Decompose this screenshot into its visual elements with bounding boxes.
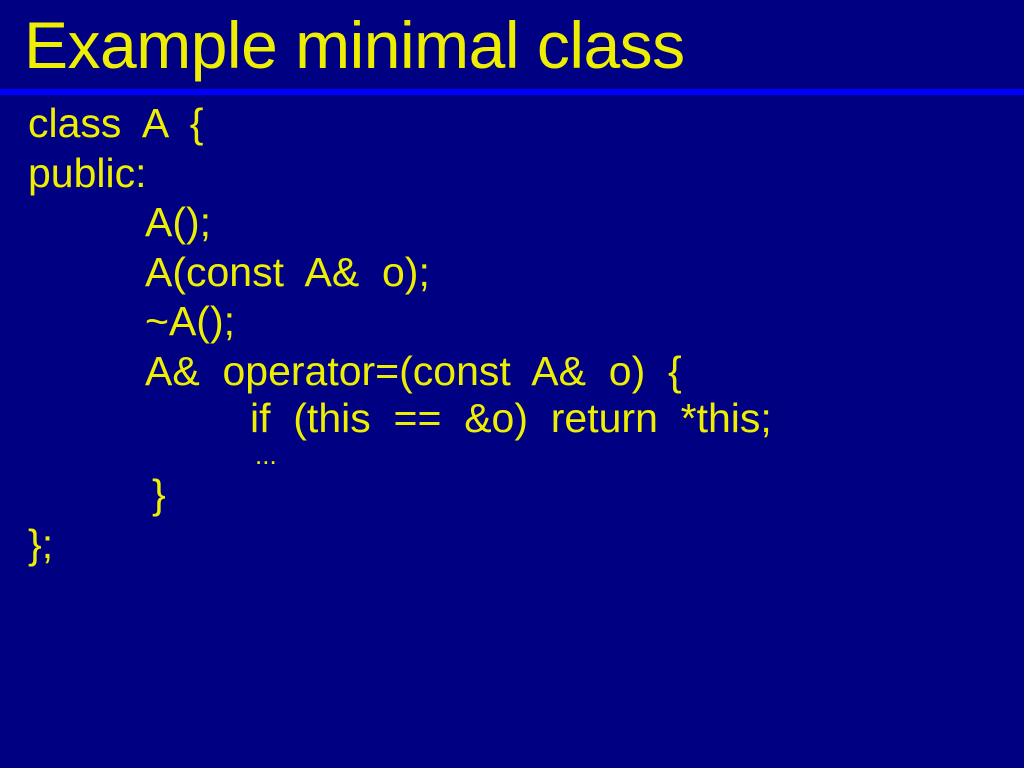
code-line: public: xyxy=(0,149,1024,199)
code-line: class A { xyxy=(0,99,1024,149)
code-line: A(); xyxy=(0,198,1024,248)
code-block: class A { public: A(); A(const A& o); ~A… xyxy=(0,99,1024,699)
code-line: ~A(); xyxy=(0,297,1024,347)
code-line-ellipsis: ... xyxy=(0,440,1024,470)
code-line: if (this == &o) return *this; xyxy=(0,396,1024,440)
code-line: A(const A& o); xyxy=(0,248,1024,298)
code-line: } xyxy=(0,470,1024,520)
slide-canvas: Example minimal class class A { public: … xyxy=(0,0,1024,768)
page-title: Example minimal class xyxy=(24,4,1000,86)
code-line: A& operator=(const A& o) { xyxy=(0,347,1024,397)
title-divider-rule xyxy=(0,89,1024,95)
code-line: }; xyxy=(0,520,1024,570)
